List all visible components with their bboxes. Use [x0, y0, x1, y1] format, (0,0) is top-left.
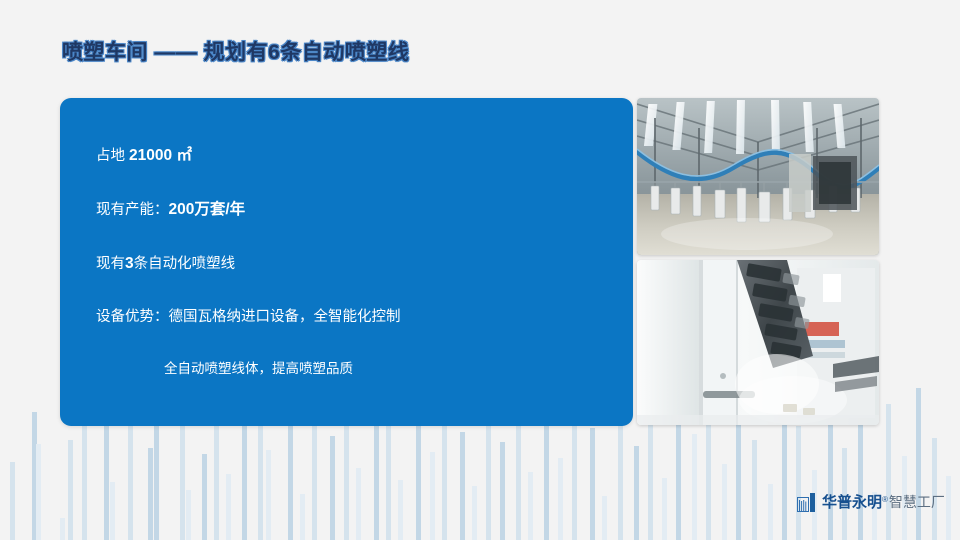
decor-bar: [60, 518, 65, 540]
decor-bar: [266, 450, 271, 540]
info-panel: 占地 21000 ㎡现有产能：200万套/年现有3条自动化喷塑线设备优势：德国瓦…: [60, 98, 633, 426]
decor-bar: [186, 490, 191, 540]
decor-bar: [932, 438, 937, 540]
decor-bar: [648, 412, 653, 540]
decor-bar: [500, 442, 505, 540]
registered-mark: ®: [882, 495, 888, 504]
decor-bar: [946, 476, 951, 540]
decor-bar: [516, 416, 521, 540]
info-line-suffix: 条自动化喷塑线: [134, 256, 236, 272]
page-title-text: 喷塑车间 —— 规划有6条自动喷塑线: [62, 36, 409, 66]
brand-logo-text: 华普永明 ® 智慧工厂: [822, 491, 945, 512]
decor-bar: [558, 458, 563, 540]
decor-bar: [602, 496, 607, 540]
decor-bar: [706, 408, 711, 540]
brand-logo: 华普永明 ® 智慧工厂: [797, 491, 945, 512]
decor-bar: [374, 422, 379, 540]
decor-bar: [416, 410, 421, 540]
info-line-text: 现有: [96, 256, 125, 272]
decor-bar: [330, 436, 335, 540]
decor-bar: [148, 448, 153, 540]
decor-bar: [590, 428, 595, 540]
decor-bar: [634, 446, 639, 540]
info-line-4: 全自动喷塑线体，提高喷塑品质: [96, 360, 613, 378]
decor-bar: [572, 406, 577, 540]
decor-bar: [662, 478, 667, 540]
info-line-0: 占地 21000 ㎡: [96, 146, 613, 167]
decor-bar: [916, 388, 921, 540]
decor-bar: [226, 474, 231, 540]
decor-bar: [722, 464, 727, 540]
decor-bar: [180, 420, 185, 540]
decor-bar: [460, 432, 465, 540]
info-line-text: 设备优势：德国瓦格纳进口设备，全智能化控制: [96, 309, 401, 325]
info-line-text: 占地: [96, 148, 129, 164]
factory-icon: [797, 493, 817, 512]
decor-bar: [110, 482, 115, 540]
decor-bar: [356, 468, 361, 540]
decor-bar: [528, 472, 533, 540]
decor-bar: [300, 494, 305, 540]
decor-bar: [104, 408, 109, 540]
info-line-value: 3: [125, 255, 134, 272]
decor-bar: [36, 444, 41, 540]
brand-name: 华普永明: [822, 491, 882, 512]
page-title: 喷塑车间 —— 规划有6条自动喷塑线: [62, 36, 409, 66]
info-list: 占地 21000 ㎡现有产能：200万套/年现有3条自动化喷塑线设备优势：德国瓦…: [96, 146, 613, 379]
decor-bar: [768, 484, 773, 540]
decor-bar: [10, 462, 15, 540]
info-line-text: 全自动喷塑线体，提高喷塑品质: [164, 361, 353, 376]
info-line-text: 现有产能：: [96, 202, 169, 218]
decor-bar: [32, 412, 37, 540]
slide-canvas: 喷塑车间 —— 规划有6条自动喷塑线 占地 21000 ㎡现有产能：200万套/…: [0, 0, 960, 540]
decor-bar: [886, 404, 891, 540]
decor-bar: [752, 440, 757, 540]
decor-bar: [242, 424, 247, 540]
info-line-3: 设备优势：德国瓦格纳进口设备，全智能化控制: [96, 308, 613, 328]
info-line-1: 现有产能：200万套/年: [96, 200, 613, 221]
decor-bar: [858, 418, 863, 540]
powder-coating-workshop-photo: [637, 98, 879, 255]
automatic-spray-booth-photo: [637, 260, 879, 425]
decor-bar: [398, 480, 403, 540]
decor-bar: [472, 486, 477, 540]
decor-bar: [288, 414, 293, 540]
decor-bar: [796, 426, 801, 540]
decor-bar: [68, 440, 73, 540]
brand-tagline: 智慧工厂: [889, 492, 945, 512]
decor-bar: [202, 454, 207, 540]
info-line-2: 现有3条自动化喷塑线: [96, 254, 613, 275]
info-line-value: 21000 ㎡: [129, 147, 192, 164]
info-line-value: 200万套/年: [169, 201, 246, 218]
decor-bar: [430, 452, 435, 540]
decor-bar: [692, 434, 697, 540]
